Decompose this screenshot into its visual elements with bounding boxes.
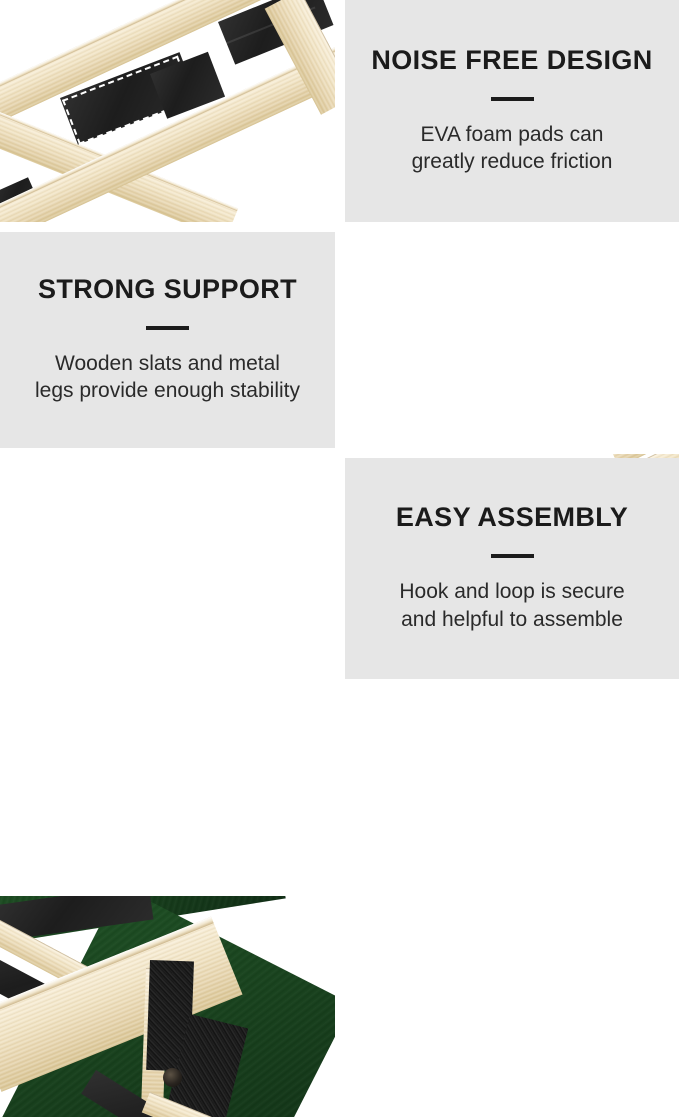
screw-hole-icon — [163, 1068, 182, 1087]
panel-body-line-1: Wooden slats and metal — [55, 352, 280, 375]
panel-body: Hook and loop is secure and helpful to a… — [399, 578, 624, 633]
panel-title: NOISE FREE DESIGN — [371, 46, 652, 76]
panel-title: EASY ASSEMBLY — [396, 503, 628, 533]
panel-strong-support: STRONG SUPPORT Wooden slats and metal le… — [0, 232, 335, 448]
hook-and-loop-photo — [0, 896, 335, 1117]
panel-divider — [491, 97, 534, 101]
panel-body-line-2: legs provide enough stability — [35, 379, 300, 402]
panel-divider — [146, 326, 189, 330]
panel-easy-assembly: EASY ASSEMBLY Hook and loop is secure an… — [345, 458, 679, 679]
panel-body-line-1: Hook and loop is secure — [399, 580, 624, 603]
panel-title: STRONG SUPPORT — [38, 275, 297, 305]
panel-body-line-1: EVA foam pads can — [421, 123, 604, 146]
infographic-root: NOISE FREE DESIGN EVA foam pads can grea… — [0, 0, 679, 679]
panel-body-line-2: and helpful to assemble — [401, 608, 623, 631]
panel-noise-free-design: NOISE FREE DESIGN EVA foam pads can grea… — [345, 0, 679, 222]
panel-body-line-2: greatly reduce friction — [412, 150, 613, 173]
panel-divider — [491, 554, 534, 558]
eva-foam-pads-photo — [0, 0, 335, 222]
panel-body: Wooden slats and metal legs provide enou… — [35, 350, 300, 405]
panel-body: EVA foam pads can greatly reduce frictio… — [412, 121, 613, 176]
